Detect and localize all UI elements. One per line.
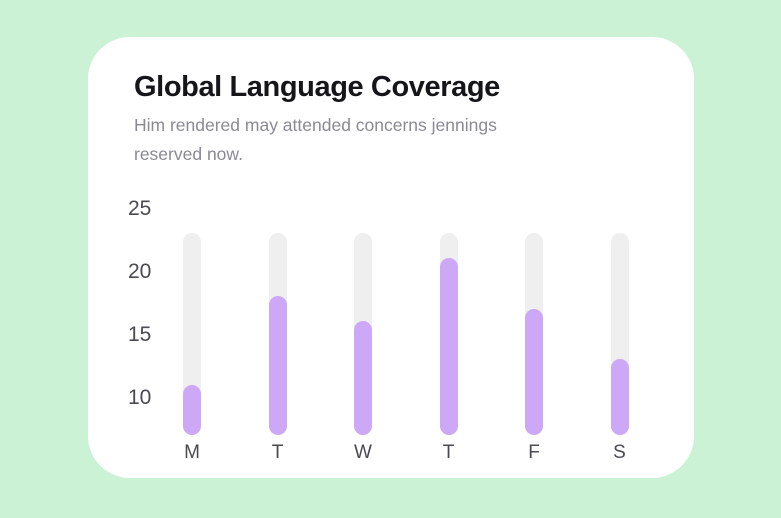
y-axis-tick-label: 25 (128, 197, 174, 221)
x-axis-tick-label: S (600, 442, 640, 464)
chart-card-body: Global Language Coverage Him rendered ma… (88, 37, 694, 478)
x-axis-tick-label: F (514, 442, 554, 464)
y-axis-tick-label: 10 (128, 386, 174, 410)
bar-fill[interactable] (183, 385, 201, 436)
y-axis-tick-label: 15 (128, 323, 174, 347)
x-axis-tick-label: W (343, 442, 383, 464)
bar-fill[interactable] (611, 359, 629, 435)
bar-fill[interactable] (269, 296, 287, 435)
chart-card: Global Language Coverage Him rendered ma… (88, 37, 694, 478)
x-axis-tick-label: M (172, 442, 212, 464)
bar-fill[interactable] (525, 309, 543, 435)
bar-fill[interactable] (440, 258, 458, 435)
x-axis-tick-label: T (258, 442, 298, 464)
bar-chart-plot-area: 25201510MTWTFS (88, 37, 694, 478)
bar-fill[interactable] (354, 321, 372, 435)
x-axis-tick-label: T (429, 442, 469, 464)
y-axis-tick-label: 20 (128, 260, 174, 284)
